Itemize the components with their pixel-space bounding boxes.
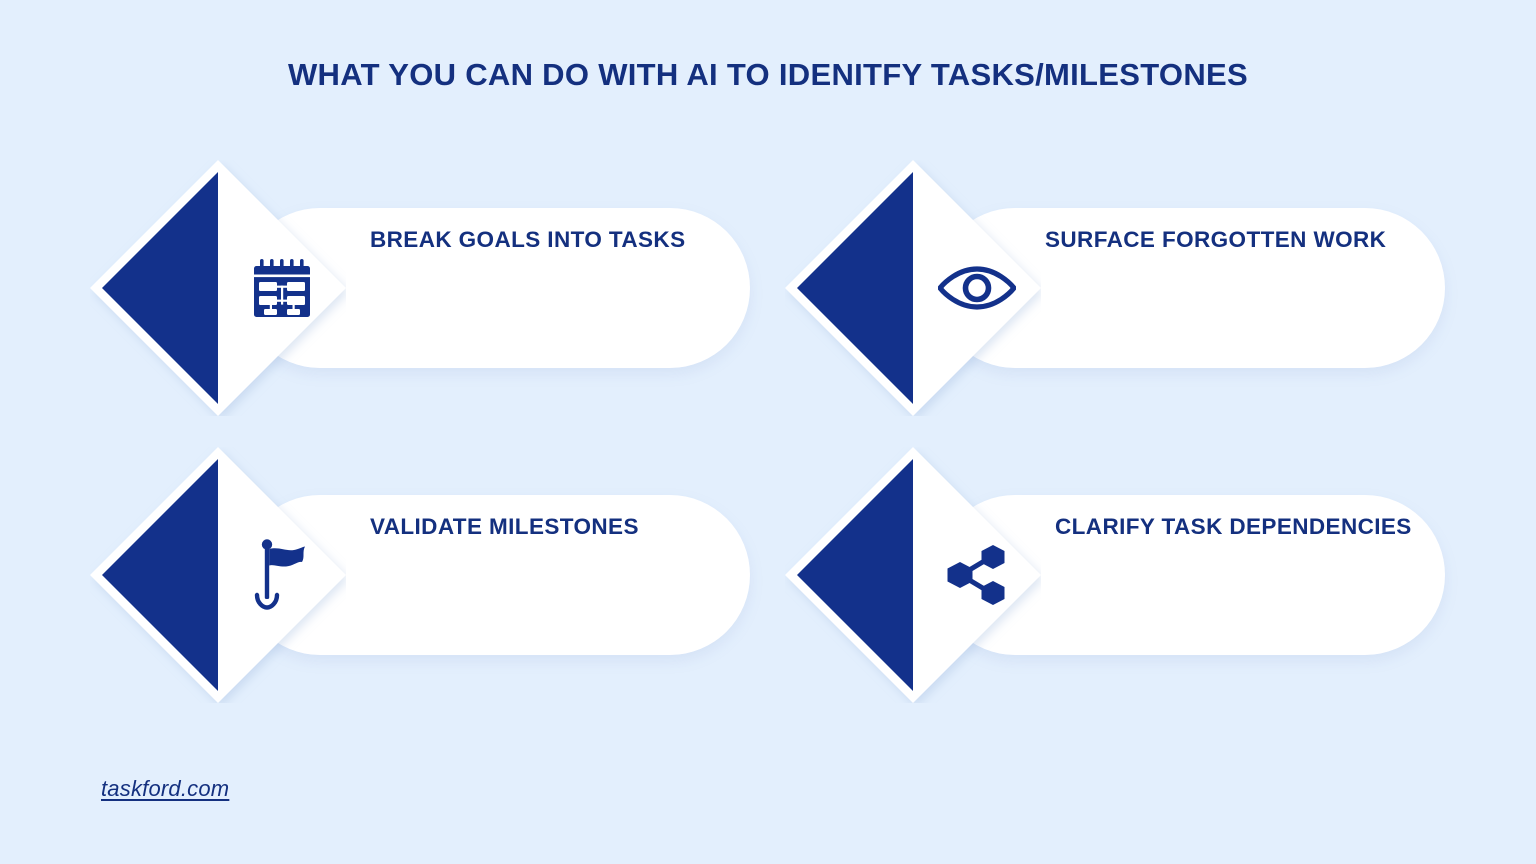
card-label: SURFACE FORGOTTEN WORK (1045, 160, 1386, 320)
share-network-icon (944, 542, 1010, 608)
infographic-canvas: WHAT YOU CAN DO WITH AI TO IDENITFY TASK… (0, 0, 1536, 864)
footer-website-link[interactable]: taskford.com (101, 776, 229, 802)
card-clarify-task-dependencies[interactable]: CLARIFY TASK DEPENDENCIES (785, 447, 1485, 703)
card-label: VALIDATE MILESTONES (370, 447, 639, 607)
card-validate-milestones[interactable]: VALIDATE MILESTONES (90, 447, 790, 703)
page-title: WHAT YOU CAN DO WITH AI TO IDENITFY TASK… (0, 56, 1536, 93)
flag-icon (253, 538, 311, 612)
card-icon-slot (218, 447, 346, 703)
card-surface-forgotten-work[interactable]: SURFACE FORGOTTEN WORK (785, 160, 1485, 416)
card-break-goals-into-tasks[interactable]: BREAK GOALS INTO TASKS (90, 160, 790, 416)
eye-icon (938, 263, 1016, 313)
card-label: BREAK GOALS INTO TASKS (370, 160, 685, 320)
card-icon-slot (913, 160, 1041, 416)
card-icon-slot (218, 160, 346, 416)
card-label: CLARIFY TASK DEPENDENCIES (1055, 447, 1412, 607)
calendar-breakdown-icon (251, 257, 313, 319)
card-icon-slot (913, 447, 1041, 703)
